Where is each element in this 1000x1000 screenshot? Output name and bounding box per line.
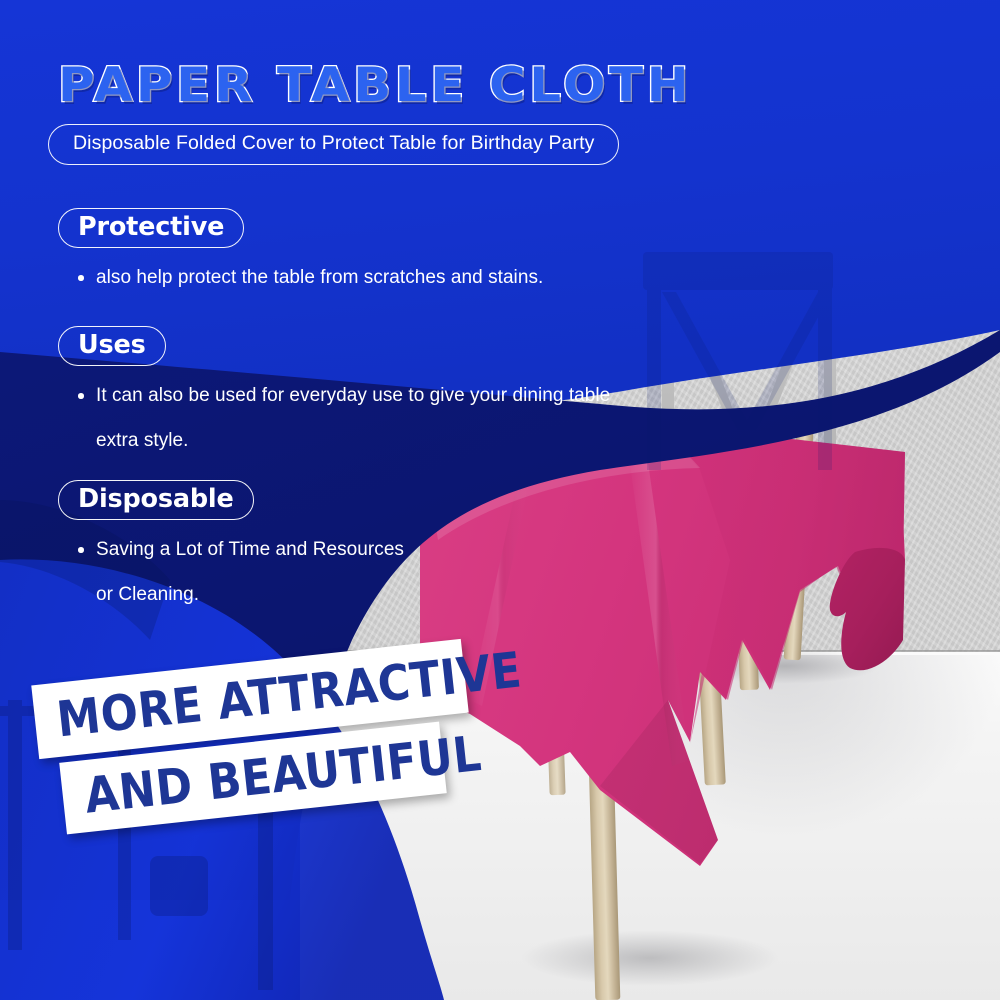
product-infographic-poster: PAPER TABLE CLOTH Disposable Folded Cove… xyxy=(0,0,1000,1000)
feature-heading-uses: Uses xyxy=(58,326,166,366)
feature-bullets-disposable: Saving a Lot of Time and Resources or Cl… xyxy=(58,527,426,617)
feature-heading-disposable: Disposable xyxy=(58,480,254,520)
page-title: PAPER TABLE CLOTH xyxy=(58,58,692,113)
feature-block-protective: Protective also help protect the table f… xyxy=(58,208,543,300)
feature-bullets-uses: It can also be used for everyday use to … xyxy=(58,373,616,463)
feature-heading-protective: Protective xyxy=(58,208,244,248)
feature-block-uses: Uses It can also be used for everyday us… xyxy=(58,326,616,463)
feature-bullets-protective: also help protect the table from scratch… xyxy=(58,255,543,300)
list-item: It can also be used for everyday use to … xyxy=(96,373,616,463)
list-item: also help protect the table from scratch… xyxy=(96,255,543,300)
poster-content: PAPER TABLE CLOTH Disposable Folded Cove… xyxy=(0,0,1000,1000)
subtitle-pill: Disposable Folded Cover to Protect Table… xyxy=(48,124,619,165)
feature-block-disposable: Disposable Saving a Lot of Time and Reso… xyxy=(58,480,426,617)
list-item: Saving a Lot of Time and Resources or Cl… xyxy=(96,527,426,617)
